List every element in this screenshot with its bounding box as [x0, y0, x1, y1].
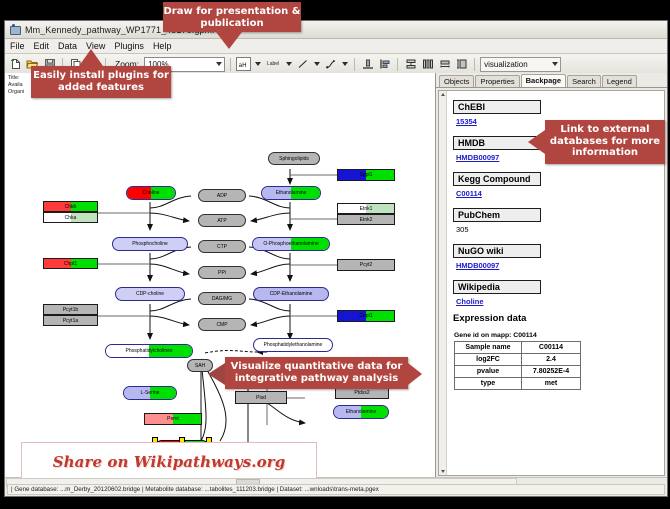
- gene-label: Sgpl1: [360, 172, 373, 178]
- table-cell-key: type: [455, 378, 522, 390]
- callout-text: Visualize quantitative data for integrat…: [231, 361, 403, 384]
- table-cell-key: Sample name: [455, 342, 522, 354]
- node-label: Ethanolamine: [346, 409, 377, 415]
- status-bar-text: | Gene database: ...m_Derby_20120602.bri…: [11, 486, 379, 493]
- node-sphingolipids[interactable]: Sphingolipids: [268, 152, 320, 165]
- node-label: Phosphocholine: [132, 241, 168, 247]
- interaction-icon[interactable]: [323, 57, 338, 72]
- node-label: Choline: [143, 190, 160, 196]
- tab-objects[interactable]: Objects: [439, 75, 474, 87]
- toolbar-divider-5: [397, 58, 398, 71]
- gene-box-cept1[interactable]: Cept1: [337, 310, 395, 322]
- node-ethanolamine-bottom[interactable]: Ethanolamine: [333, 405, 389, 419]
- table-cell-key: log2FC: [455, 354, 522, 366]
- node-label: Ethanolamine: [276, 190, 307, 196]
- screenshot-root: Mm_Kennedy_pathway_WP1771_45176.gpml Fil…: [0, 0, 670, 509]
- node-label: CDP-Ethanolamine: [270, 291, 313, 297]
- toolbar-divider-4: [354, 58, 355, 71]
- svg-text:aH: aH: [239, 62, 247, 69]
- gene-box-chkb[interactable]: Chkb: [43, 201, 98, 212]
- node-label: CDP-choline: [136, 291, 164, 297]
- line-icon[interactable]: [295, 57, 310, 72]
- callout-links: Link to external databases for more info…: [545, 120, 665, 164]
- status-area: | Gene database: ...m_Derby_20120602.bri…: [5, 477, 667, 496]
- gene-label: Pcyt1b: [63, 307, 78, 313]
- gene-id-on-mapp: Gene id on mapp: C00114: [454, 332, 658, 339]
- menu-item-file[interactable]: File: [10, 41, 25, 51]
- gene-label: Pcyt2: [360, 262, 373, 268]
- distribute-icon[interactable]: [420, 57, 435, 72]
- section-heading-kegg: Kegg Compound: [453, 172, 541, 186]
- table-row: log2FC 2.4: [455, 354, 581, 366]
- stack-vertical-icon[interactable]: [403, 57, 418, 72]
- align-bottom-icon[interactable]: [360, 57, 375, 72]
- callout-text: Easily install plugins for added feature…: [33, 70, 169, 93]
- node-phosphatidylethanolamine[interactable]: Phosphatidylethanolamine: [253, 338, 333, 352]
- gene-box-pcyt2[interactable]: Pcyt2: [337, 259, 395, 271]
- status-bar: | Gene database: ...m_Derby_20120602.bri…: [7, 484, 665, 495]
- menu-item-edit[interactable]: Edit: [34, 41, 50, 51]
- node-label: CMP: [216, 322, 227, 328]
- callout-plugins: Easily install plugins for added feature…: [31, 66, 171, 98]
- tab-search[interactable]: Search: [567, 75, 601, 87]
- gene-label: Chkb: [65, 204, 77, 210]
- kegg-link[interactable]: C00114: [456, 189, 658, 198]
- node-label: O-Phosphoethanolamine: [263, 241, 318, 247]
- align-left-icon[interactable]: [377, 57, 392, 72]
- expression-data-heading: Expression data: [453, 313, 658, 324]
- node-label: ADP: [217, 193, 227, 199]
- table-row: pvalue 7.80252E-4: [455, 366, 581, 378]
- node-phosphatidylcholines[interactable]: Phosphatidylcholines: [105, 344, 193, 358]
- node-label: PPi: [218, 270, 226, 276]
- tab-legend[interactable]: Legend: [602, 75, 637, 87]
- table-cell-value: C00114: [522, 342, 581, 354]
- node-phosphocholine[interactable]: Phosphocholine: [112, 237, 188, 251]
- datanode-dropdown-arrow-icon[interactable]: [253, 57, 262, 72]
- gene-label: Ptdss2: [354, 390, 369, 396]
- pathway-canvas[interactable]: Title: Availa Organi: [5, 73, 436, 478]
- node-cdp-choline[interactable]: CDP-choline: [115, 287, 185, 301]
- section-heading-pubchem: PubChem: [453, 208, 541, 222]
- interaction-dropdown-arrow-icon[interactable]: [340, 57, 349, 72]
- callout-visualize-arrow-right-icon: [408, 363, 422, 385]
- visualization-combo[interactable]: visualization: [480, 57, 561, 72]
- node-atp[interactable]: ATP: [198, 214, 246, 227]
- pathvisio-icon: [9, 24, 20, 35]
- node-dag-mg[interactable]: DAG/MG: [198, 292, 246, 305]
- label-dropdown-arrow-icon[interactable]: [284, 57, 293, 72]
- node-label: L-Serine: [141, 390, 160, 396]
- side-panel-tabs: Objects Properties Backpage Search Legen…: [436, 73, 667, 88]
- gene-box-sgpl1[interactable]: Sgpl1: [337, 169, 395, 181]
- menu-bar: File Edit Data View Plugins Help: [5, 39, 667, 54]
- table-cell-key: pvalue: [455, 366, 522, 378]
- callout-links-arrow-icon: [528, 130, 545, 154]
- node-choline-top[interactable]: Choline: [126, 186, 176, 200]
- scroll-down-icon[interactable]: [439, 468, 446, 475]
- node-o-phosphoethanolamine[interactable]: O-Phosphoethanolamine: [252, 237, 330, 251]
- callout-plugins-arrow-icon: [79, 49, 103, 66]
- table-cell-value: 7.80252E-4: [522, 366, 581, 378]
- label-icon[interactable]: Label: [264, 57, 282, 72]
- gene-box-pemt[interactable]: Pemt: [144, 413, 202, 425]
- pathway-info-labels: Title: Availa Organi: [8, 75, 24, 96]
- gene-label: Etnk1: [360, 206, 373, 212]
- backpage-scrollbar[interactable]: [439, 91, 447, 475]
- node-adp[interactable]: ADP: [198, 189, 246, 202]
- node-label: SAH: [195, 363, 205, 369]
- gene-box-chka[interactable]: Chka: [43, 212, 98, 223]
- node-cdp-ethanolamine[interactable]: CDP-Ethanolamine: [253, 287, 329, 301]
- node-label: ATP: [217, 218, 226, 224]
- info-label-availab: Availa: [8, 82, 24, 89]
- table-row: Sample name C00114: [455, 342, 581, 354]
- chevron-down-icon-2: [552, 62, 558, 66]
- visualization-value: visualization: [484, 60, 528, 69]
- gene-label: Etnk2: [360, 217, 373, 223]
- common-height-icon[interactable]: [454, 57, 469, 72]
- node-label: DAG/MG: [212, 296, 232, 302]
- node-l-serine-left[interactable]: L-Serine: [123, 386, 177, 400]
- gene-label: Pcyt1a: [63, 318, 78, 324]
- gene-label: Chpt1: [64, 261, 77, 267]
- gene-label: Pisd: [256, 395, 266, 401]
- gene-box-chpt1[interactable]: Chpt1: [43, 258, 98, 269]
- node-ctp[interactable]: CTP: [198, 240, 246, 253]
- share-banner: Share on Wikipathways.org: [21, 442, 317, 478]
- tab-backpage[interactable]: Backpage: [521, 74, 566, 87]
- callout-visualize-arrow-icon: [208, 363, 225, 385]
- callout-visualize: Visualize quantitative data for integrat…: [225, 357, 408, 389]
- gene-box-pcyt1b[interactable]: Pcyt1b: [43, 304, 98, 315]
- table-cell-value: met: [522, 378, 581, 390]
- title-bar: Mm_Kennedy_pathway_WP1771_45176.gpml: [5, 21, 667, 39]
- expression-table: Sample name C00114 log2FC 2.4 pvalue 7.8…: [454, 341, 581, 390]
- node-label: CTP: [217, 244, 227, 250]
- wikipedia-link[interactable]: Choline: [456, 297, 658, 306]
- toolbar-divider-6: [474, 58, 475, 71]
- callout-draw: Draw for presentation & publication: [163, 2, 301, 32]
- gene-box-etnk2[interactable]: Etnk2: [337, 214, 395, 225]
- scroll-up-icon[interactable]: [439, 91, 446, 98]
- info-label-title: Title:: [8, 75, 24, 82]
- gene-box-etnk1[interactable]: Etnk1: [337, 203, 395, 214]
- chevron-down-icon: [216, 62, 222, 66]
- table-row: type met: [455, 378, 581, 390]
- callout-text: Link to external databases for more info…: [550, 124, 660, 158]
- table-cell-value: 2.4: [522, 354, 581, 366]
- new-icon[interactable]: [8, 57, 23, 72]
- section-heading-nugo: NuGO wiki: [453, 244, 541, 258]
- node-ethanolamine[interactable]: Ethanolamine: [261, 186, 321, 200]
- menu-item-plugins[interactable]: Plugins: [114, 41, 144, 51]
- callout-draw-arrow-icon: [216, 32, 242, 49]
- gene-label: Pemt: [167, 416, 179, 422]
- datanode-icon[interactable]: aH: [236, 57, 251, 71]
- gene-label: Chka: [65, 215, 77, 221]
- common-width-icon[interactable]: [437, 57, 452, 72]
- pubchem-value: 305: [456, 225, 658, 234]
- node-label: Phosphatidylethanolamine: [264, 342, 323, 348]
- info-label-organism: Organi: [8, 89, 24, 96]
- node-cmp[interactable]: CMP: [198, 318, 246, 331]
- tab-properties[interactable]: Properties: [475, 75, 519, 87]
- line-dropdown-arrow-icon[interactable]: [312, 57, 321, 72]
- node-ppi[interactable]: PPi: [198, 266, 246, 279]
- menu-item-help[interactable]: Help: [153, 41, 172, 51]
- toolbar-divider-3: [230, 58, 231, 71]
- callout-text: Draw for presentation & publication: [164, 6, 301, 29]
- gene-box-pcyt1a[interactable]: Pcyt1a: [43, 315, 98, 326]
- section-heading-chebi: ChEBI: [453, 100, 541, 114]
- menu-item-data[interactable]: Data: [58, 41, 77, 51]
- gene-box-pisd[interactable]: Pisd: [235, 391, 287, 404]
- node-label: Sphingolipids: [279, 156, 309, 162]
- gene-label: Cept1: [359, 313, 372, 319]
- nugo-link[interactable]: HMDB00097: [456, 261, 658, 270]
- node-label: Phosphatidylcholines: [126, 348, 173, 354]
- section-heading-wikipedia: Wikipedia: [453, 280, 541, 294]
- share-banner-text: Share on Wikipathways.org: [53, 453, 286, 471]
